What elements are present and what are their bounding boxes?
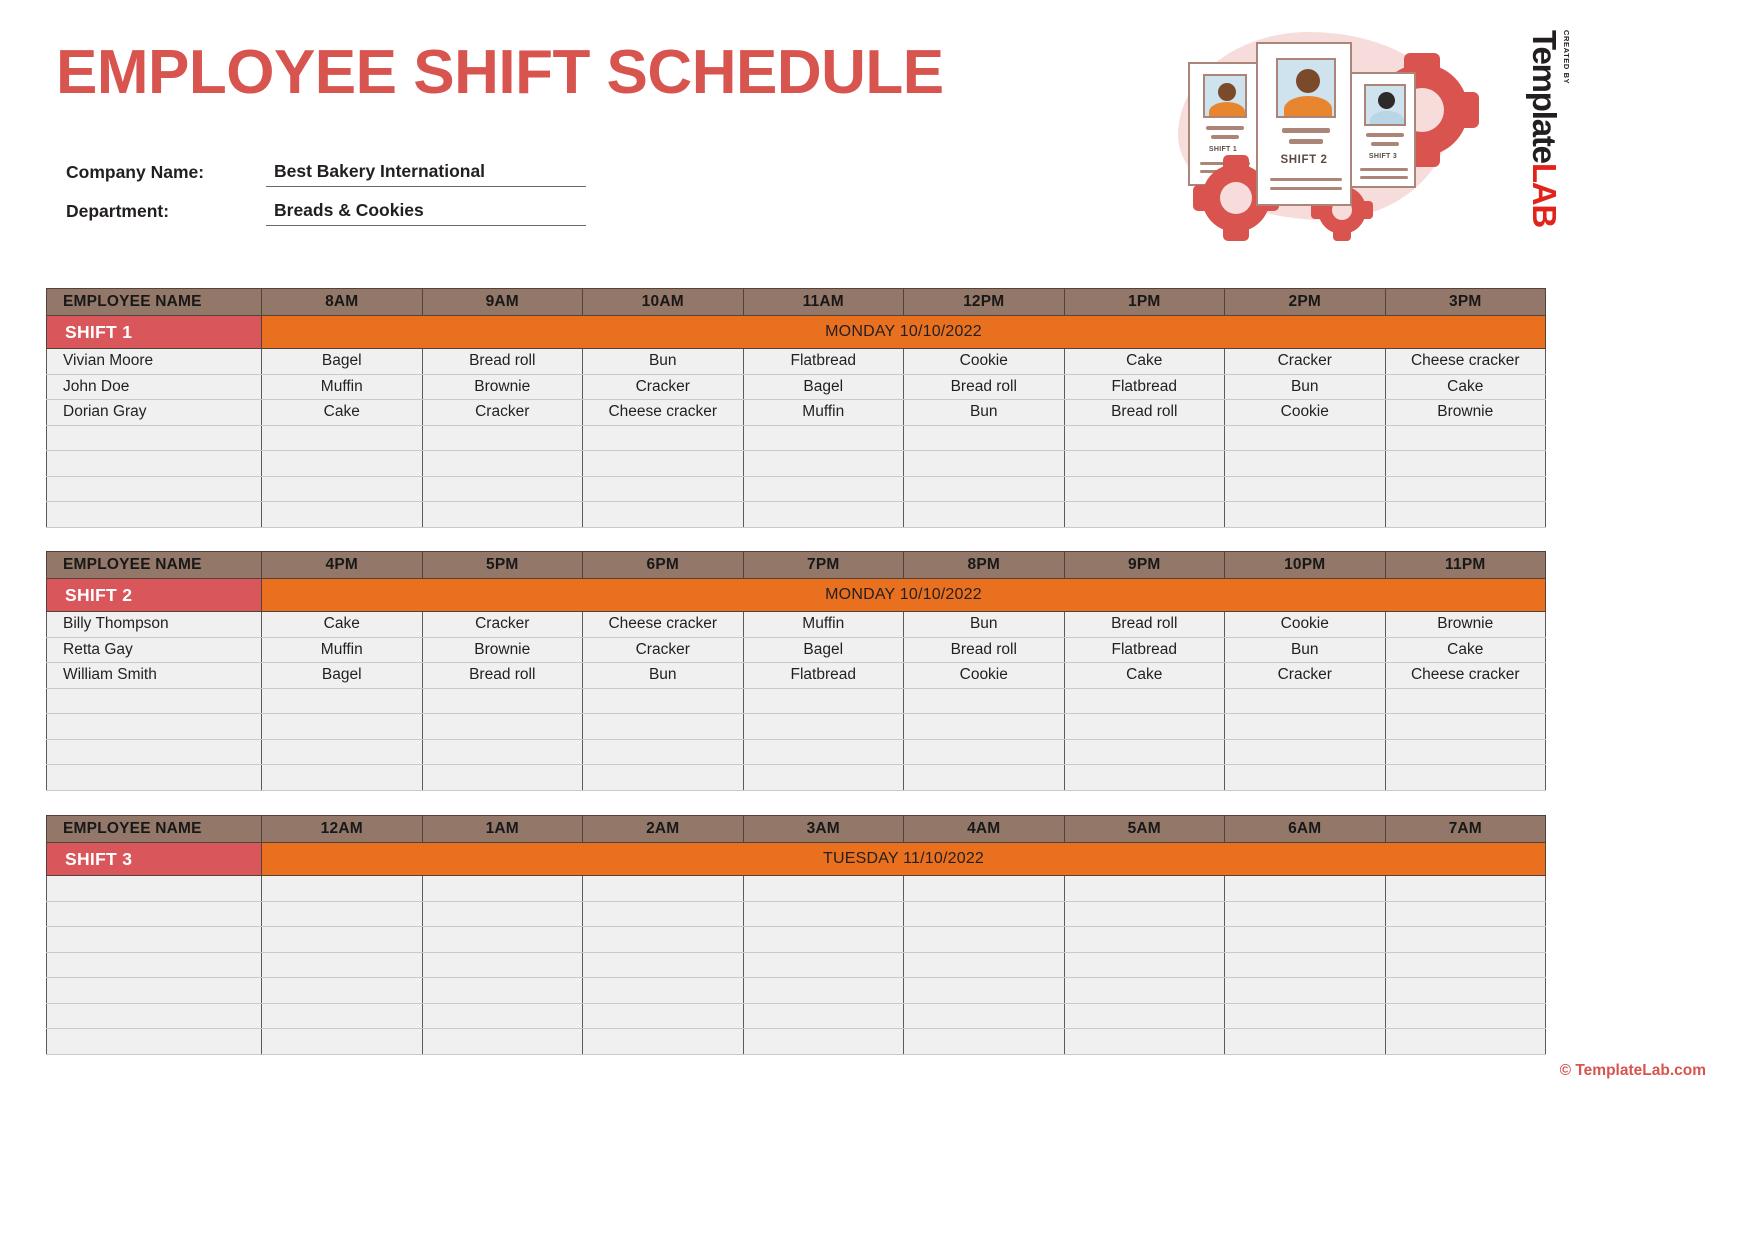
table-row: William SmithBagelBread rollBunFlatbread… (47, 663, 1546, 689)
shift-task-cell[interactable]: Cookie (904, 663, 1065, 689)
table-row (47, 901, 1546, 927)
shift-task-cell[interactable] (422, 476, 583, 502)
table-row (47, 927, 1546, 953)
table-row (47, 876, 1546, 902)
shift-task-cell[interactable]: Muffin (743, 612, 904, 638)
shift-task-cell[interactable] (1385, 425, 1546, 451)
shift-task-cell[interactable]: Bagel (743, 374, 904, 400)
shift-task-cell[interactable] (904, 1003, 1065, 1029)
table-row (47, 714, 1546, 740)
shift-task-cell[interactable]: Brownie (1385, 400, 1546, 426)
shift-task-cell[interactable]: Cheese cracker (583, 612, 744, 638)
employee-name-cell[interactable] (47, 476, 262, 502)
shift-task-cell[interactable] (1064, 952, 1225, 978)
column-header-hour: 9PM (1064, 552, 1225, 579)
shift-task-cell[interactable] (262, 765, 423, 791)
shift-task-cell[interactable] (743, 714, 904, 740)
shift-task-cell[interactable] (583, 688, 744, 714)
employee-name-cell[interactable] (47, 1029, 262, 1055)
table-row: Dorian GrayCakeCrackerCheese crackerMuff… (47, 400, 1546, 426)
column-header-hour: 5AM (1064, 816, 1225, 843)
shift-task-cell[interactable] (904, 476, 1065, 502)
table-row (47, 425, 1546, 451)
shift-task-cell[interactable]: Muffin (743, 400, 904, 426)
column-header-hour: 10AM (583, 289, 744, 316)
shift-task-cell[interactable] (1385, 978, 1546, 1004)
shift-task-cell[interactable] (262, 1029, 423, 1055)
department-field[interactable]: Breads & Cookies (266, 200, 586, 226)
shift-date[interactable]: MONDAY 10/10/2022 (262, 579, 1546, 612)
employee-badge-2: SHIFT 2 (1256, 42, 1352, 206)
shift-task-cell[interactable]: Flatbread (1064, 374, 1225, 400)
column-header-hour: 3PM (1385, 289, 1546, 316)
shift-task-cell[interactable] (743, 765, 904, 791)
shift-task-cell[interactable] (262, 978, 423, 1004)
shift-task-cell[interactable] (583, 425, 744, 451)
shift-task-cell[interactable] (1064, 688, 1225, 714)
shift-task-cell[interactable] (1225, 978, 1386, 1004)
company-name-label: Company Name: (66, 162, 266, 187)
column-header-hour: 8PM (904, 552, 1065, 579)
column-header-employee-name: EMPLOYEE NAME (47, 816, 262, 843)
shift-task-cell[interactable] (743, 476, 904, 502)
shift-task-cell[interactable]: Flatbread (743, 663, 904, 689)
badge-line (1360, 168, 1408, 171)
shift-task-cell[interactable]: Cake (1064, 663, 1225, 689)
shift-task-cell[interactable] (743, 739, 904, 765)
table-row: Vivian MooreBagelBread rollBunFlatbreadC… (47, 349, 1546, 375)
shift-task-cell[interactable]: Cookie (904, 349, 1065, 375)
shift-task-cell[interactable] (1064, 901, 1225, 927)
employee-name-cell[interactable] (47, 425, 262, 451)
badge-line (1282, 128, 1330, 133)
shift-task-cell[interactable]: Cheese cracker (1385, 349, 1546, 375)
shift-label: SHIFT 2 (47, 579, 262, 612)
shift-task-cell[interactable] (1064, 425, 1225, 451)
column-header-hour: 6AM (1225, 816, 1386, 843)
shift-task-cell[interactable]: Brownie (422, 374, 583, 400)
shift-task-cell[interactable] (1064, 876, 1225, 902)
templatelab-logo: CREATED BY TemplateLAB (1512, 28, 1572, 210)
shift-task-cell[interactable] (904, 978, 1065, 1004)
shift-task-cell[interactable] (422, 901, 583, 927)
shift-task-cell[interactable] (1225, 688, 1386, 714)
shift-task-cell[interactable] (262, 876, 423, 902)
shift-task-cell[interactable] (904, 739, 1065, 765)
column-header-hour: 11PM (1385, 552, 1546, 579)
department-label: Department: (66, 201, 266, 226)
column-header-hour: 8AM (262, 289, 423, 316)
shift-task-cell[interactable] (904, 688, 1065, 714)
shift-task-cell[interactable] (1385, 739, 1546, 765)
shift-task-cell[interactable] (262, 927, 423, 953)
avatar-body (1209, 102, 1245, 118)
shift-task-cell[interactable] (743, 978, 904, 1004)
shift-task-cell[interactable] (743, 502, 904, 528)
table-row (47, 1003, 1546, 1029)
shift-task-cell[interactable] (743, 451, 904, 477)
shift-task-cell[interactable]: Bread roll (904, 637, 1065, 663)
table-row: John DoeMuffinBrownieCrackerBagelBread r… (47, 374, 1546, 400)
shift-task-cell[interactable] (1225, 425, 1386, 451)
badge-1-caption: SHIFT 1 (1190, 146, 1256, 153)
employee-name-cell[interactable]: Retta Gay (47, 637, 262, 663)
shift-task-cell[interactable] (583, 476, 744, 502)
employee-name-cell[interactable]: William Smith (47, 663, 262, 689)
shift-task-cell[interactable] (1064, 451, 1225, 477)
table-row (47, 765, 1546, 791)
badge-line (1371, 142, 1399, 146)
shift-task-cell[interactable]: Bun (583, 663, 744, 689)
employee-name-cell[interactable]: Vivian Moore (47, 349, 262, 375)
employee-name-cell[interactable]: John Doe (47, 374, 262, 400)
shift-task-cell[interactable]: Cheese cracker (583, 400, 744, 426)
shift-task-cell[interactable] (422, 1003, 583, 1029)
employee-name-cell[interactable] (47, 688, 262, 714)
shift-task-cell[interactable] (422, 425, 583, 451)
shift-task-cell[interactable]: Muffin (262, 374, 423, 400)
employee-name-cell[interactable] (47, 739, 262, 765)
shift-task-cell[interactable]: Brownie (422, 637, 583, 663)
shift-task-cell[interactable] (904, 425, 1065, 451)
table-row (47, 502, 1546, 528)
shift-task-cell[interactable] (1385, 952, 1546, 978)
table-row (47, 952, 1546, 978)
shift-date[interactable]: MONDAY 10/10/2022 (262, 316, 1546, 349)
table-row: Retta GayMuffinBrownieCrackerBagelBread … (47, 637, 1546, 663)
column-header-hour: 1AM (422, 816, 583, 843)
employee-name-cell[interactable] (47, 502, 262, 528)
shift-task-cell[interactable] (1064, 1003, 1225, 1029)
column-header-hour: 11AM (743, 289, 904, 316)
shift-task-cell[interactable] (422, 927, 583, 953)
department-row: Department: Breads & Cookies (66, 187, 586, 226)
shift-task-cell[interactable] (1225, 451, 1386, 477)
shift-task-cell[interactable]: Cracker (422, 612, 583, 638)
shift-task-cell[interactable] (1385, 901, 1546, 927)
shift-task-cell[interactable] (422, 876, 583, 902)
shift-task-cell[interactable] (743, 901, 904, 927)
shift-task-cell[interactable] (1385, 451, 1546, 477)
shift-task-cell[interactable] (904, 927, 1065, 953)
column-header-hour: 3AM (743, 816, 904, 843)
shift-task-cell[interactable] (904, 901, 1065, 927)
avatar (1276, 58, 1336, 118)
shift-task-cell[interactable] (583, 901, 744, 927)
shift-task-cell[interactable] (743, 927, 904, 953)
shift-task-cell[interactable] (904, 876, 1065, 902)
shift-date[interactable]: TUESDAY 11/10/2022 (262, 843, 1546, 876)
shift-task-cell[interactable] (422, 978, 583, 1004)
shift-task-cell[interactable] (1064, 502, 1225, 528)
shift-task-cell[interactable] (1064, 476, 1225, 502)
shift-task-cell[interactable]: Cracker (583, 637, 744, 663)
avatar-face (1378, 92, 1395, 109)
shift-task-cell[interactable]: Flatbread (743, 349, 904, 375)
shift-task-cell[interactable] (904, 952, 1065, 978)
shift-task-cell[interactable] (743, 952, 904, 978)
shift-task-cell[interactable] (1385, 476, 1546, 502)
logo-name-template: Template (1527, 30, 1564, 163)
shift-task-cell[interactable] (1064, 714, 1225, 740)
shift-task-cell[interactable] (422, 739, 583, 765)
shift-table-3: EMPLOYEE NAME12AM1AM2AM3AM4AM5AM6AM7AMSH… (46, 815, 1546, 1055)
shift-task-cell[interactable] (262, 451, 423, 477)
shift-task-cell[interactable]: Brownie (1385, 612, 1546, 638)
shift-task-cell[interactable] (743, 425, 904, 451)
avatar-face (1218, 83, 1236, 101)
shift-task-cell[interactable] (1064, 1029, 1225, 1055)
shift-task-cell[interactable] (422, 952, 583, 978)
shift-task-cell[interactable] (743, 1003, 904, 1029)
shift-task-cell[interactable] (583, 1029, 744, 1055)
shift-task-cell[interactable] (422, 765, 583, 791)
shift-date-row: SHIFT 2MONDAY 10/10/2022 (47, 579, 1546, 612)
badge-line (1270, 187, 1342, 190)
employee-badge-3: SHIFT 3 (1350, 72, 1416, 188)
shift-task-cell[interactable] (262, 425, 423, 451)
shift-task-cell[interactable] (743, 688, 904, 714)
shift-task-cell[interactable]: Bread roll (422, 663, 583, 689)
footer-credit[interactable]: © TemplateLab.com (1560, 1062, 1706, 1080)
shift-task-cell[interactable] (1385, 1029, 1546, 1055)
avatar-body (1370, 111, 1404, 126)
shift-task-cell[interactable] (1225, 901, 1386, 927)
shift-task-cell[interactable]: Bread roll (1064, 400, 1225, 426)
shift-task-cell[interactable] (262, 739, 423, 765)
shift-task-cell[interactable]: Bagel (262, 663, 423, 689)
document-header: EMPLOYEE SHIFT SCHEDULE Company Name: Be… (0, 0, 1754, 268)
column-header-employee-name: EMPLOYEE NAME (47, 289, 262, 316)
column-header-hour: 4PM (262, 552, 423, 579)
shift-task-cell[interactable] (1225, 876, 1386, 902)
shift-task-cell[interactable] (583, 739, 744, 765)
shift-task-cell[interactable] (262, 688, 423, 714)
shift-task-cell[interactable] (262, 1003, 423, 1029)
shift-task-cell[interactable] (1385, 927, 1546, 953)
table-header-row: EMPLOYEE NAME8AM9AM10AM11AM12PM1PM2PM3PM (47, 289, 1546, 316)
shift-task-cell[interactable]: Cake (1385, 637, 1546, 663)
shift-task-cell[interactable]: Cracker (1225, 349, 1386, 375)
shift-task-cell[interactable]: Cracker (422, 400, 583, 426)
shift-task-cell[interactable] (262, 952, 423, 978)
shift-task-cell[interactable] (904, 1029, 1065, 1055)
shift-task-cell[interactable]: Cake (1385, 374, 1546, 400)
shift-task-cell[interactable]: Bagel (743, 637, 904, 663)
column-header-hour: 7AM (1385, 816, 1546, 843)
shift-task-cell[interactable] (583, 927, 744, 953)
shift-table-2: EMPLOYEE NAME4PM5PM6PM7PM8PM9PM10PM11PMS… (46, 551, 1546, 791)
column-header-hour: 12PM (904, 289, 1065, 316)
badge-3-caption: SHIFT 3 (1352, 153, 1414, 160)
table-row (47, 739, 1546, 765)
shift-task-cell[interactable] (1225, 1003, 1386, 1029)
shift-task-cell[interactable] (583, 451, 744, 477)
shift-task-cell[interactable]: Bun (904, 400, 1065, 426)
employee-name-cell[interactable] (47, 876, 262, 902)
company-name-row: Company Name: Best Bakery International (66, 148, 586, 187)
column-header-hour: 2PM (1225, 289, 1386, 316)
shift-label: SHIFT 3 (47, 843, 262, 876)
employee-name-cell[interactable] (47, 765, 262, 791)
avatar-face (1296, 69, 1320, 93)
shift-task-cell[interactable] (1225, 952, 1386, 978)
page-title: EMPLOYEE SHIFT SCHEDULE (56, 42, 944, 104)
shift-task-cell[interactable] (904, 502, 1065, 528)
shift-task-cell[interactable] (1064, 739, 1225, 765)
avatar (1364, 84, 1406, 126)
shift-task-cell[interactable] (1225, 476, 1386, 502)
badge-line (1206, 126, 1244, 130)
shift-task-cell[interactable] (422, 1029, 583, 1055)
table-row (47, 451, 1546, 477)
badge-line (1366, 133, 1404, 137)
shift-task-cell[interactable] (583, 714, 744, 740)
shift-task-cell[interactable]: Cheese cracker (1385, 663, 1546, 689)
column-header-hour: 12AM (262, 816, 423, 843)
shift-task-cell[interactable] (743, 1029, 904, 1055)
shift-task-cell[interactable] (1225, 739, 1386, 765)
badge-line (1211, 135, 1239, 139)
avatar-body (1284, 96, 1332, 118)
shift-date-row: SHIFT 1MONDAY 10/10/2022 (47, 316, 1546, 349)
shift-task-cell[interactable] (422, 502, 583, 528)
shift-task-cell[interactable] (1385, 1003, 1546, 1029)
table-row (47, 476, 1546, 502)
shift-task-cell[interactable]: Muffin (262, 637, 423, 663)
shift-task-cell[interactable] (1225, 502, 1386, 528)
column-header-hour: 6PM (583, 552, 744, 579)
shift-task-cell[interactable] (1225, 1029, 1386, 1055)
table-row: Billy ThompsonCakeCrackerCheese crackerM… (47, 612, 1546, 638)
shift-task-cell[interactable] (262, 901, 423, 927)
employee-name-cell[interactable]: Billy Thompson (47, 612, 262, 638)
employee-name-cell[interactable] (47, 901, 262, 927)
gear-hole (1220, 182, 1252, 214)
avatar (1203, 74, 1247, 118)
employee-name-cell[interactable] (47, 714, 262, 740)
shift-task-cell[interactable] (1225, 927, 1386, 953)
badge-line (1270, 178, 1342, 181)
shift-task-cell[interactable]: Bread roll (904, 374, 1065, 400)
employee-name-cell[interactable] (47, 978, 262, 1004)
table-row (47, 978, 1546, 1004)
shift-task-cell[interactable]: Bun (1225, 374, 1386, 400)
shift-label: SHIFT 1 (47, 316, 262, 349)
shift-task-cell[interactable] (583, 1003, 744, 1029)
badge-line (1289, 139, 1323, 144)
shift-task-cell[interactable] (904, 714, 1065, 740)
shift-badges-illustration: SHIFT 1 SHIFT 3 SHIFT 2 (1160, 18, 1470, 248)
column-header-hour: 1PM (1064, 289, 1225, 316)
shift-date-row: SHIFT 3TUESDAY 11/10/2022 (47, 843, 1546, 876)
shift-task-cell[interactable] (1225, 714, 1386, 740)
table-header-row: EMPLOYEE NAME4PM5PM6PM7PM8PM9PM10PM11PM (47, 552, 1546, 579)
shift-task-cell[interactable] (262, 502, 423, 528)
shift-task-cell[interactable]: Bagel (262, 349, 423, 375)
shift-task-cell[interactable] (262, 714, 423, 740)
shift-task-cell[interactable] (904, 765, 1065, 791)
shift-task-cell[interactable] (1385, 714, 1546, 740)
shift-task-cell[interactable]: Bread roll (422, 349, 583, 375)
shift-task-cell[interactable] (1064, 978, 1225, 1004)
logo-name-lab: LAB (1527, 163, 1564, 227)
shift-task-cell[interactable] (583, 978, 744, 1004)
shift-task-cell[interactable] (904, 451, 1065, 477)
shift-task-cell[interactable] (583, 952, 744, 978)
employee-name-cell[interactable] (47, 1003, 262, 1029)
badge-line (1360, 176, 1408, 179)
column-header-hour: 10PM (1225, 552, 1386, 579)
shift-task-cell[interactable]: Flatbread (1064, 637, 1225, 663)
table-header-row: EMPLOYEE NAME12AM1AM2AM3AM4AM5AM6AM7AM (47, 816, 1546, 843)
shift-task-cell[interactable] (1064, 927, 1225, 953)
shift-task-cell[interactable] (1225, 765, 1386, 791)
shift-task-cell[interactable]: Cookie (1225, 612, 1386, 638)
shift-task-cell[interactable]: Bun (1225, 637, 1386, 663)
shift-task-cell[interactable]: Cake (262, 612, 423, 638)
shift-task-cell[interactable]: Bread roll (1064, 612, 1225, 638)
shift-table-1: EMPLOYEE NAME8AM9AM10AM11AM12PM1PM2PM3PM… (46, 288, 1546, 528)
employee-name-cell[interactable] (47, 952, 262, 978)
company-info-form: Company Name: Best Bakery International … (66, 148, 586, 226)
shift-task-cell[interactable] (422, 451, 583, 477)
employee-name-cell[interactable]: Dorian Gray (47, 400, 262, 426)
column-header-hour: 9AM (422, 289, 583, 316)
table-row (47, 1029, 1546, 1055)
logo-superscript: CREATED BY (1563, 30, 1571, 227)
shift-task-cell[interactable] (262, 476, 423, 502)
shift-task-cell[interactable]: Cracker (583, 374, 744, 400)
shift-task-cell[interactable] (1385, 876, 1546, 902)
column-header-hour: 4AM (904, 816, 1065, 843)
column-header-hour: 7PM (743, 552, 904, 579)
shift-task-cell[interactable] (422, 714, 583, 740)
shift-task-cell[interactable] (743, 876, 904, 902)
shift-task-cell[interactable]: Cookie (1225, 400, 1386, 426)
shift-task-cell[interactable]: Bun (583, 349, 744, 375)
column-header-employee-name: EMPLOYEE NAME (47, 552, 262, 579)
column-header-hour: 5PM (422, 552, 583, 579)
shift-task-cell[interactable]: Cracker (1225, 663, 1386, 689)
shift-task-cell[interactable]: Cake (262, 400, 423, 426)
shift-task-cell[interactable] (583, 502, 744, 528)
company-name-field[interactable]: Best Bakery International (266, 161, 586, 187)
shift-task-cell[interactable] (1385, 502, 1546, 528)
employee-name-cell[interactable] (47, 927, 262, 953)
shift-task-cell[interactable] (1385, 688, 1546, 714)
shift-task-cell[interactable] (422, 688, 583, 714)
shift-task-cell[interactable] (1064, 765, 1225, 791)
shift-task-cell[interactable] (583, 876, 744, 902)
table-row (47, 688, 1546, 714)
badge-2-caption: SHIFT 2 (1258, 154, 1350, 166)
employee-name-cell[interactable] (47, 451, 262, 477)
column-header-hour: 2AM (583, 816, 744, 843)
shift-task-cell[interactable]: Cake (1064, 349, 1225, 375)
shift-task-cell[interactable] (1385, 765, 1546, 791)
shift-task-cell[interactable]: Bun (904, 612, 1065, 638)
shift-task-cell[interactable] (583, 765, 744, 791)
